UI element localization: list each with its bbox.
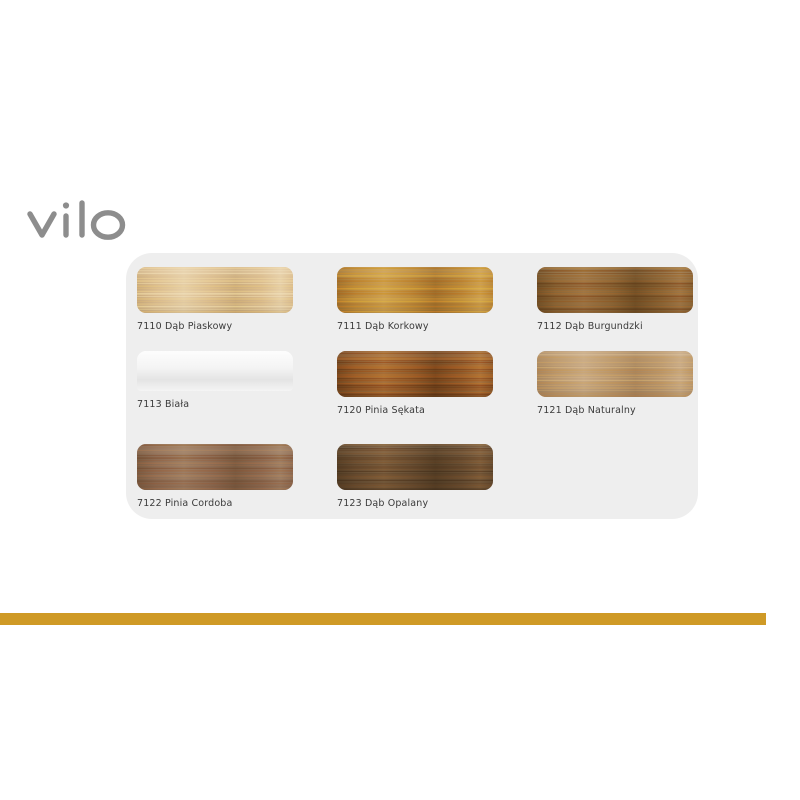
swatch-chip[interactable]	[337, 444, 493, 490]
swatch-chip[interactable]	[137, 351, 293, 391]
swatch-cell-7120[interactable]: 7120 Pinia Sękata	[337, 351, 507, 417]
wood-grain-texture	[337, 351, 493, 397]
swatch-cell-7112[interactable]: 7112 Dąb Burgundzki	[537, 267, 707, 333]
swatch-label: 7113 Biała	[137, 399, 307, 411]
vilo-logo	[26, 196, 136, 244]
swatch-label: 7120 Pinia Sękata	[337, 405, 507, 417]
swatch-cell-7122[interactable]: 7122 Pinia Cordoba	[137, 444, 307, 510]
swatch-chip[interactable]	[337, 351, 493, 397]
swatch-cell-7121[interactable]: 7121 Dąb Naturalny	[537, 351, 707, 417]
vilo-wordmark-icon	[26, 198, 130, 242]
swatch-board: 7110 Dąb Piaskowy 7111 Dąb Korkowy 7112 …	[0, 0, 800, 800]
swatch-chip[interactable]	[137, 444, 293, 490]
swatch-chip[interactable]	[537, 351, 693, 397]
swatch-chip[interactable]	[137, 267, 293, 313]
wood-grain-texture	[337, 444, 493, 490]
wood-grain-texture	[537, 351, 693, 397]
swatch-label: 7112 Dąb Burgundzki	[537, 321, 707, 333]
swatch-chip[interactable]	[337, 267, 493, 313]
wood-grain-texture	[137, 267, 293, 313]
gold-accent-bar	[0, 613, 766, 625]
swatch-grid: 7110 Dąb Piaskowy 7111 Dąb Korkowy 7112 …	[126, 253, 698, 519]
swatch-panel: 7110 Dąb Piaskowy 7111 Dąb Korkowy 7112 …	[126, 253, 698, 519]
swatch-cell-7123[interactable]: 7123 Dąb Opalany	[337, 444, 507, 510]
swatch-label: 7122 Pinia Cordoba	[137, 498, 307, 510]
wood-grain-texture	[537, 267, 693, 313]
swatch-cell-7110[interactable]: 7110 Dąb Piaskowy	[137, 267, 307, 333]
swatch-label: 7121 Dąb Naturalny	[537, 405, 707, 417]
swatch-cell-7111[interactable]: 7111 Dąb Korkowy	[337, 267, 507, 333]
wood-grain-texture	[137, 351, 293, 391]
logo-o-ring	[94, 213, 123, 237]
logo-i-dot	[63, 202, 69, 208]
swatch-cell-7113[interactable]: 7113 Biała	[137, 351, 307, 411]
wood-grain-texture	[137, 444, 293, 490]
swatch-label: 7110 Dąb Piaskowy	[137, 321, 307, 333]
swatch-chip[interactable]	[537, 267, 693, 313]
wood-grain-texture	[337, 267, 493, 313]
swatch-label: 7111 Dąb Korkowy	[337, 321, 507, 333]
swatch-label: 7123 Dąb Opalany	[337, 498, 507, 510]
